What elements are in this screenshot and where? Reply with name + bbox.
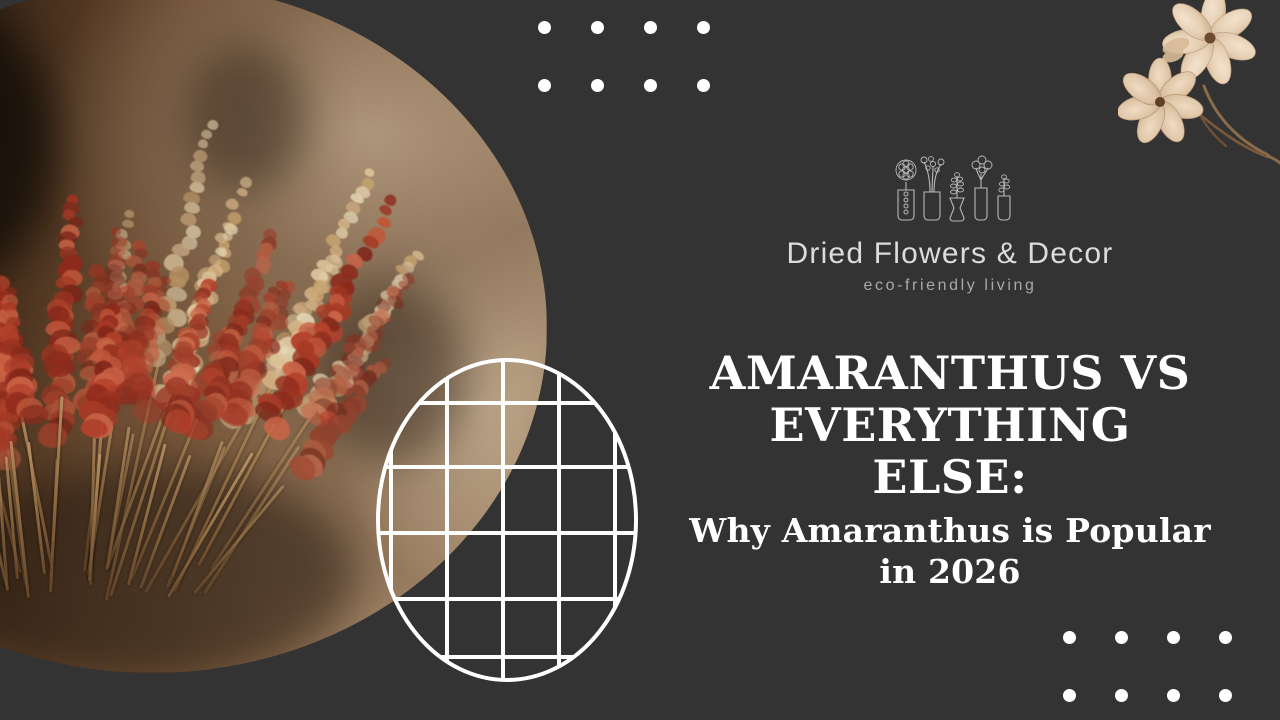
subheadline-line-1: Why Amaranthus is Popular xyxy=(689,511,1211,550)
dot xyxy=(1115,689,1128,702)
dot xyxy=(697,79,710,92)
dried-flowers-in-vases-icon xyxy=(700,150,1200,231)
dot xyxy=(644,21,657,34)
hero-banner: Dried Flowers & Decor eco-friendly livin… xyxy=(0,0,1280,720)
brand-tagline: eco-friendly living xyxy=(700,278,1200,294)
dot xyxy=(1167,689,1180,702)
headline-line-2: EVERYTHING xyxy=(769,398,1130,452)
dot xyxy=(538,79,551,92)
dot xyxy=(1219,689,1232,702)
dot xyxy=(644,79,657,92)
brand-name: Dried Flowers & Decor xyxy=(700,239,1200,269)
dried-cosmos-flower-sprig-icon xyxy=(1118,0,1280,170)
dot xyxy=(697,21,710,34)
grid-circle-icon xyxy=(375,357,639,683)
headline-line-1: AMARANTHUS VS xyxy=(710,346,1191,400)
dot-grid-icon-top-left xyxy=(538,21,750,137)
dot-grid-icon-bottom-right xyxy=(1063,631,1271,720)
page-subtitle: Why Amaranthus is Popular in 2026 xyxy=(670,510,1230,593)
dot xyxy=(1219,631,1232,644)
page-title: AMARANTHUS VS EVERYTHING ELSE: xyxy=(670,348,1230,504)
dot xyxy=(591,21,604,34)
dot xyxy=(538,21,551,34)
headline-line-3: ELSE: xyxy=(872,450,1027,504)
brand-logo[interactable]: Dried Flowers & Decor eco-friendly livin… xyxy=(700,150,1200,294)
dot xyxy=(1063,689,1076,702)
dot xyxy=(1115,631,1128,644)
dot xyxy=(1063,631,1076,644)
subheadline-line-2: in 2026 xyxy=(879,552,1020,591)
headline-block: AMARANTHUS VS EVERYTHING ELSE: Why Amara… xyxy=(670,348,1230,592)
dot xyxy=(591,79,604,92)
dot xyxy=(1167,631,1180,644)
